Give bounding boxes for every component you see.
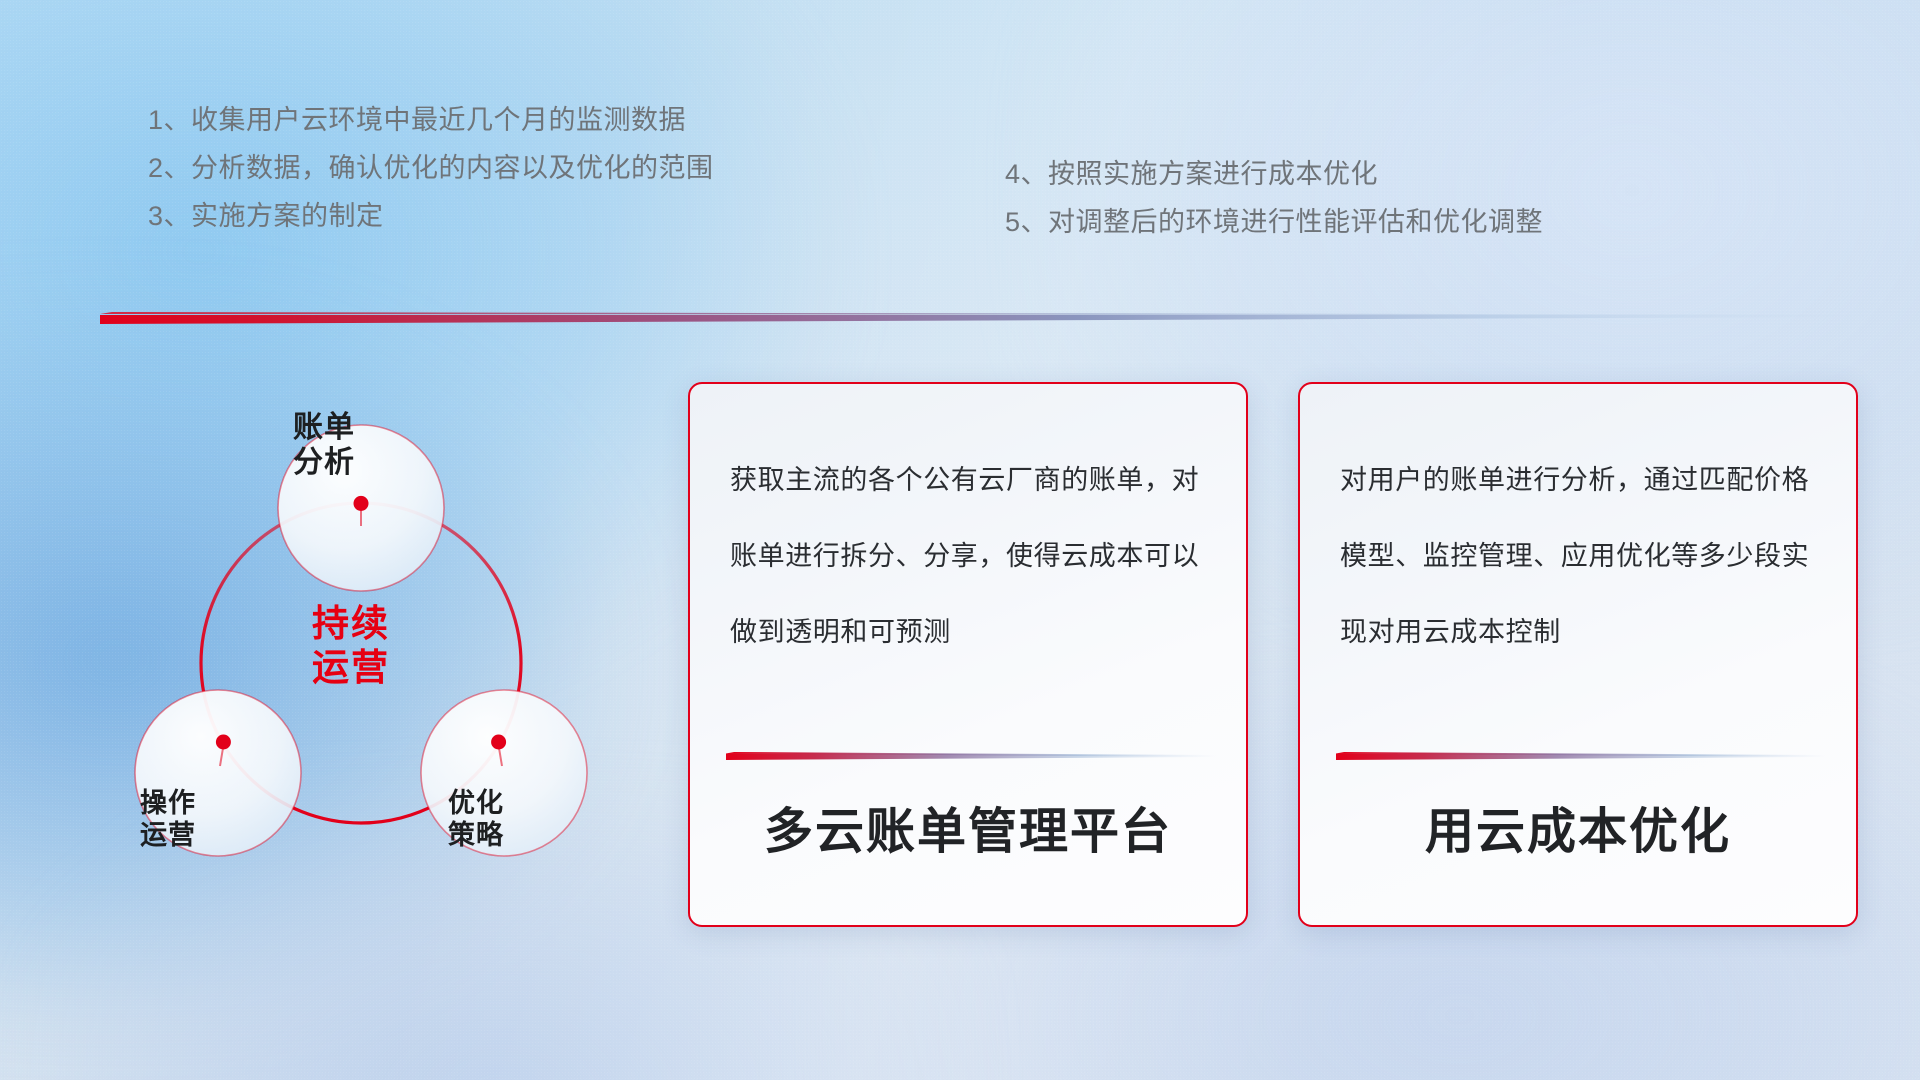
divider-shape-icon [100, 312, 1875, 325]
connector-dot-top [354, 496, 369, 511]
node-label-billing-analysis: 账单 分析 [244, 410, 404, 481]
steps-list-left: 1、收集用户云环境中最近几个月的监测数据 2、分析数据，确认优化的内容以及优化的… [148, 96, 714, 240]
step-item-5: 5、对调整后的环境进行性能评估和优化调整 [1005, 198, 1543, 246]
card-divider-shape-icon [1336, 752, 1826, 761]
step-item-3: 3、实施方案的制定 [148, 192, 714, 240]
diagram-center-label: 持续 运营 [256, 602, 446, 689]
card-divider [726, 752, 1216, 761]
card-divider-shape-icon [726, 752, 1216, 761]
node-label-optimization: 优化 策略 [396, 788, 556, 852]
card-body-text: 对用户的账单进行分析，通过匹配价格模型、监控管理、应用优化等多少段实现对用云成本… [1340, 442, 1822, 670]
card-body-text: 获取主流的各个公有云厂商的账单，对账单进行拆分、分享，使得云成本可以做到透明和可… [730, 442, 1212, 670]
step-item-1: 1、收集用户云环境中最近几个月的监测数据 [148, 96, 714, 144]
card-cloud-cost-optimization[interactable]: 对用户的账单进行分析，通过匹配价格模型、监控管理、应用优化等多少段实现对用云成本… [1298, 382, 1858, 927]
connector-dot-bottom-right [491, 735, 506, 750]
step-item-4: 4、按照实施方案进行成本优化 [1005, 150, 1543, 198]
step-item-2: 2、分析数据，确认优化的内容以及优化的范围 [148, 144, 714, 192]
connector-dot-bottom-left [216, 735, 231, 750]
card-divider [1336, 752, 1826, 761]
card-title: 多云账单管理平台 [690, 792, 1246, 863]
card-title: 用云成本优化 [1300, 792, 1856, 863]
steps-list-right: 4、按照实施方案进行成本优化 5、对调整后的环境进行性能评估和优化调整 [1005, 150, 1543, 246]
node-label-operations: 操作 运营 [88, 788, 248, 852]
section-divider [100, 312, 1875, 325]
slide-stage: 1、收集用户云环境中最近几个月的监测数据 2、分析数据，确认优化的内容以及优化的… [0, 0, 1920, 1080]
card-multi-cloud-billing-platform[interactable]: 获取主流的各个公有云厂商的账单，对账单进行拆分、分享，使得云成本可以做到透明和可… [688, 382, 1248, 927]
